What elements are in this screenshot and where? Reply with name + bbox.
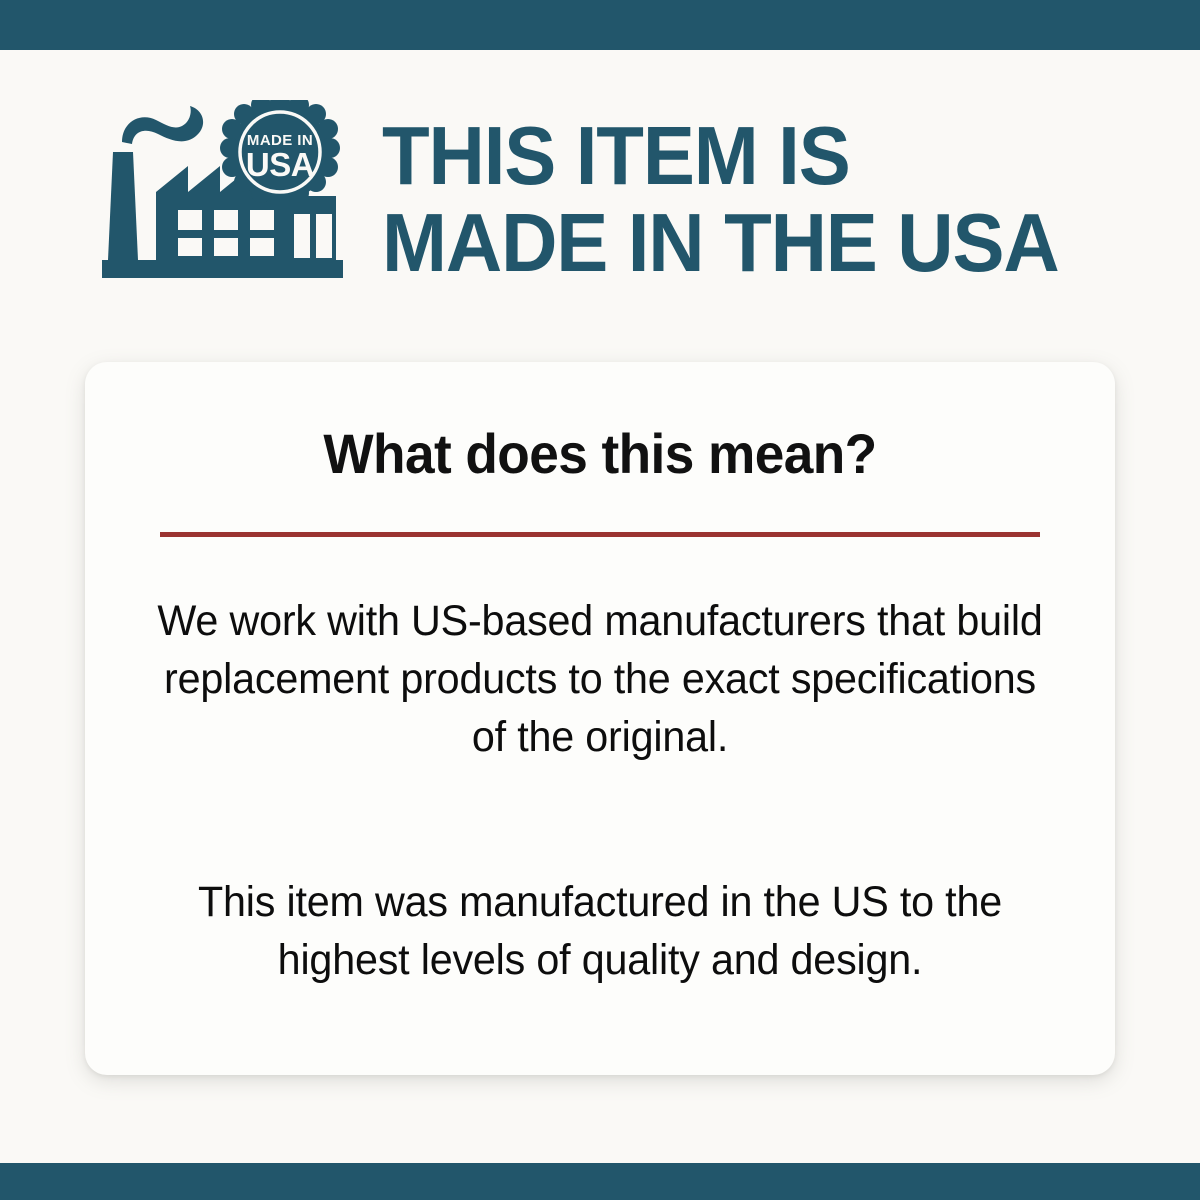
- card-paragraph-1: We work with US-based manufacturers that…: [154, 592, 1047, 766]
- header-section: MADE IN USA THIS ITEM IS MADE IN THE USA: [0, 50, 1200, 312]
- factory-icon: MADE IN USA: [100, 100, 345, 285]
- svg-text:USA: USA: [246, 146, 314, 183]
- card-divider-rule: [160, 532, 1040, 537]
- page-title-line-2: MADE IN THE USA: [382, 199, 1125, 286]
- card-heading: What does this mean?: [111, 424, 1090, 484]
- top-accent-band: [0, 0, 1200, 50]
- card-paragraph-2: This item was manufactured in the US to …: [154, 873, 1047, 989]
- page-root: MADE IN USA THIS ITEM IS MADE IN THE USA…: [0, 0, 1200, 1200]
- page-title: THIS ITEM IS MADE IN THE USA: [382, 112, 1172, 286]
- page-title-line-1: THIS ITEM IS: [382, 112, 1125, 199]
- bottom-accent-band: [0, 1163, 1200, 1200]
- explanation-card: What does this mean? We work with US-bas…: [85, 362, 1115, 1075]
